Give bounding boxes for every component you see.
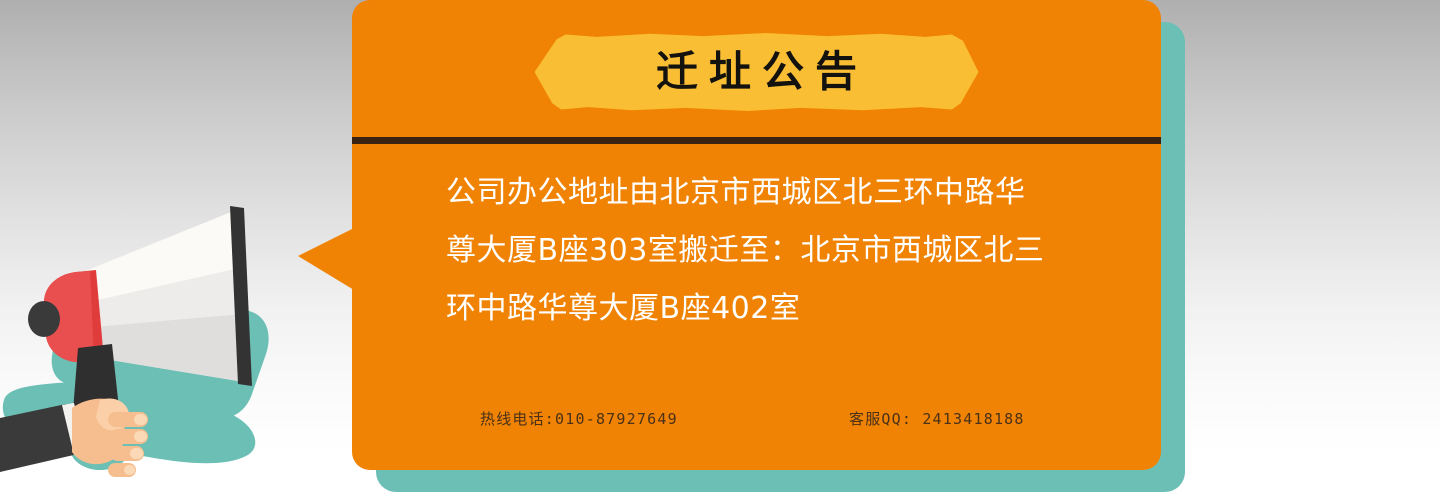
title-banner-wrap: 迁址公告	[352, 28, 1161, 116]
page-title: 迁址公告	[645, 51, 868, 93]
body-line: 公司办公地址由北京市西城区北三环中路华	[446, 164, 1096, 222]
hotline-text: 热线电话:010-87927649	[480, 408, 678, 429]
body-line: 环中路华尊大厦B座402室	[446, 280, 1096, 338]
announcement-body: 公司办公地址由北京市西城区北三环中路华 尊大厦B座303室搬迁至：北京市西城区北…	[446, 164, 1096, 338]
megaphone-icon	[0, 186, 330, 492]
title-banner: 迁址公告	[535, 33, 979, 111]
body-line: 尊大厦B座303室搬迁至：北京市西城区北三	[446, 222, 1096, 280]
announcement-card: 迁址公告 公司办公地址由北京市西城区北三环中路华 尊大厦B座303室搬迁至：北京…	[352, 0, 1161, 470]
title-divider	[352, 137, 1161, 144]
contact-footer: 热线电话:010-87927649 客服QQ: 2413418188	[352, 408, 1161, 436]
announcement-banner-stage: 迁址公告 公司办公地址由北京市西城区北三环中路华 尊大厦B座303室搬迁至：北京…	[0, 0, 1440, 492]
megaphone-cap	[28, 301, 60, 337]
qq-text: 客服QQ: 2413418188	[849, 408, 1025, 429]
